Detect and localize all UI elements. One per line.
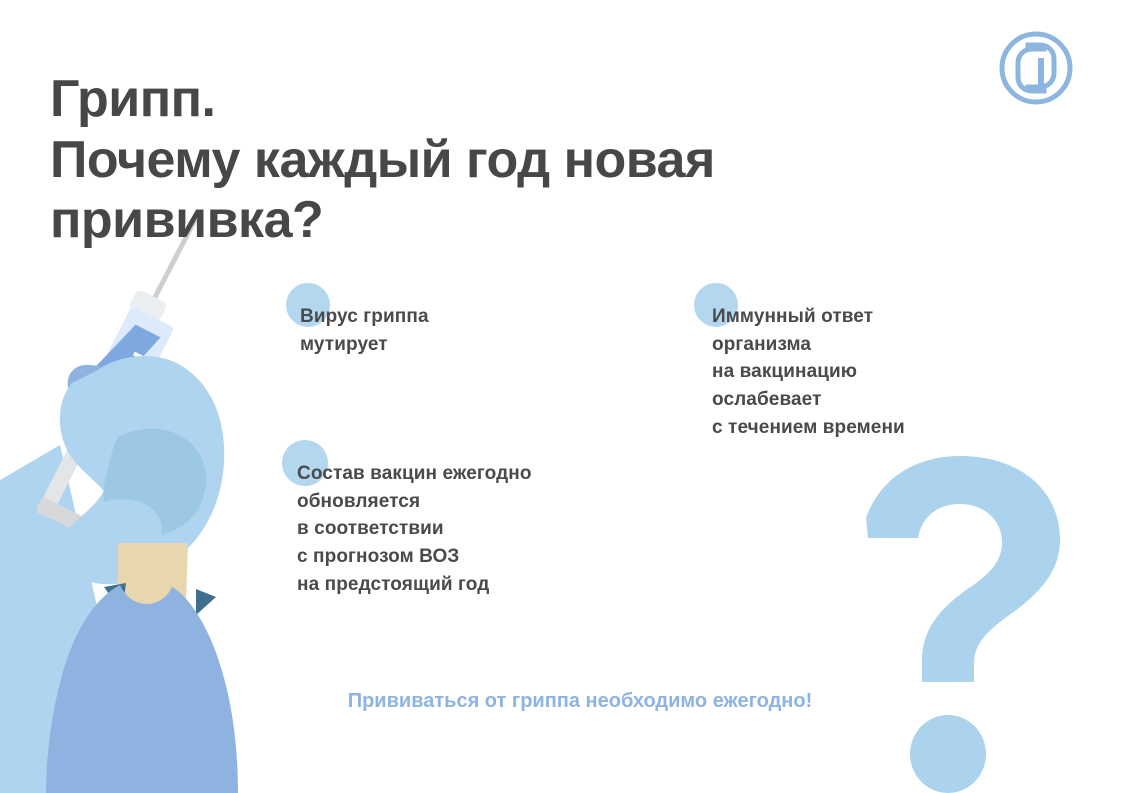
brand-logo[interactable] [998, 30, 1074, 106]
bullet-virus-mutates-text: Вирус гриппа мутирует [300, 303, 630, 358]
slide-canvas: Грипп. Почему каждый год новая прививка?… [0, 0, 1122, 793]
footer-call-to-action: Прививаться от гриппа необходимо ежегодн… [300, 683, 860, 720]
bullet-vaccine-composition-text: Состав вакцин ежегодно обновляется в соо… [297, 460, 667, 599]
bullet-vaccine-composition: Состав вакцин ежегодно обновляется в соо… [297, 460, 667, 599]
bullet-immune-response: Иммунный ответ организма на вакцинацию о… [712, 303, 1042, 442]
gloved-hand-holding-syringe-illustration [0, 215, 300, 793]
page-title: Грипп. Почему каждый год новая прививка? [50, 69, 910, 251]
bullet-virus-mutates: Вирус гриппа мутирует [300, 303, 630, 358]
question-mark-decoration [856, 452, 1076, 793]
bullet-immune-response-text: Иммунный ответ организма на вакцинацию о… [712, 303, 1042, 442]
